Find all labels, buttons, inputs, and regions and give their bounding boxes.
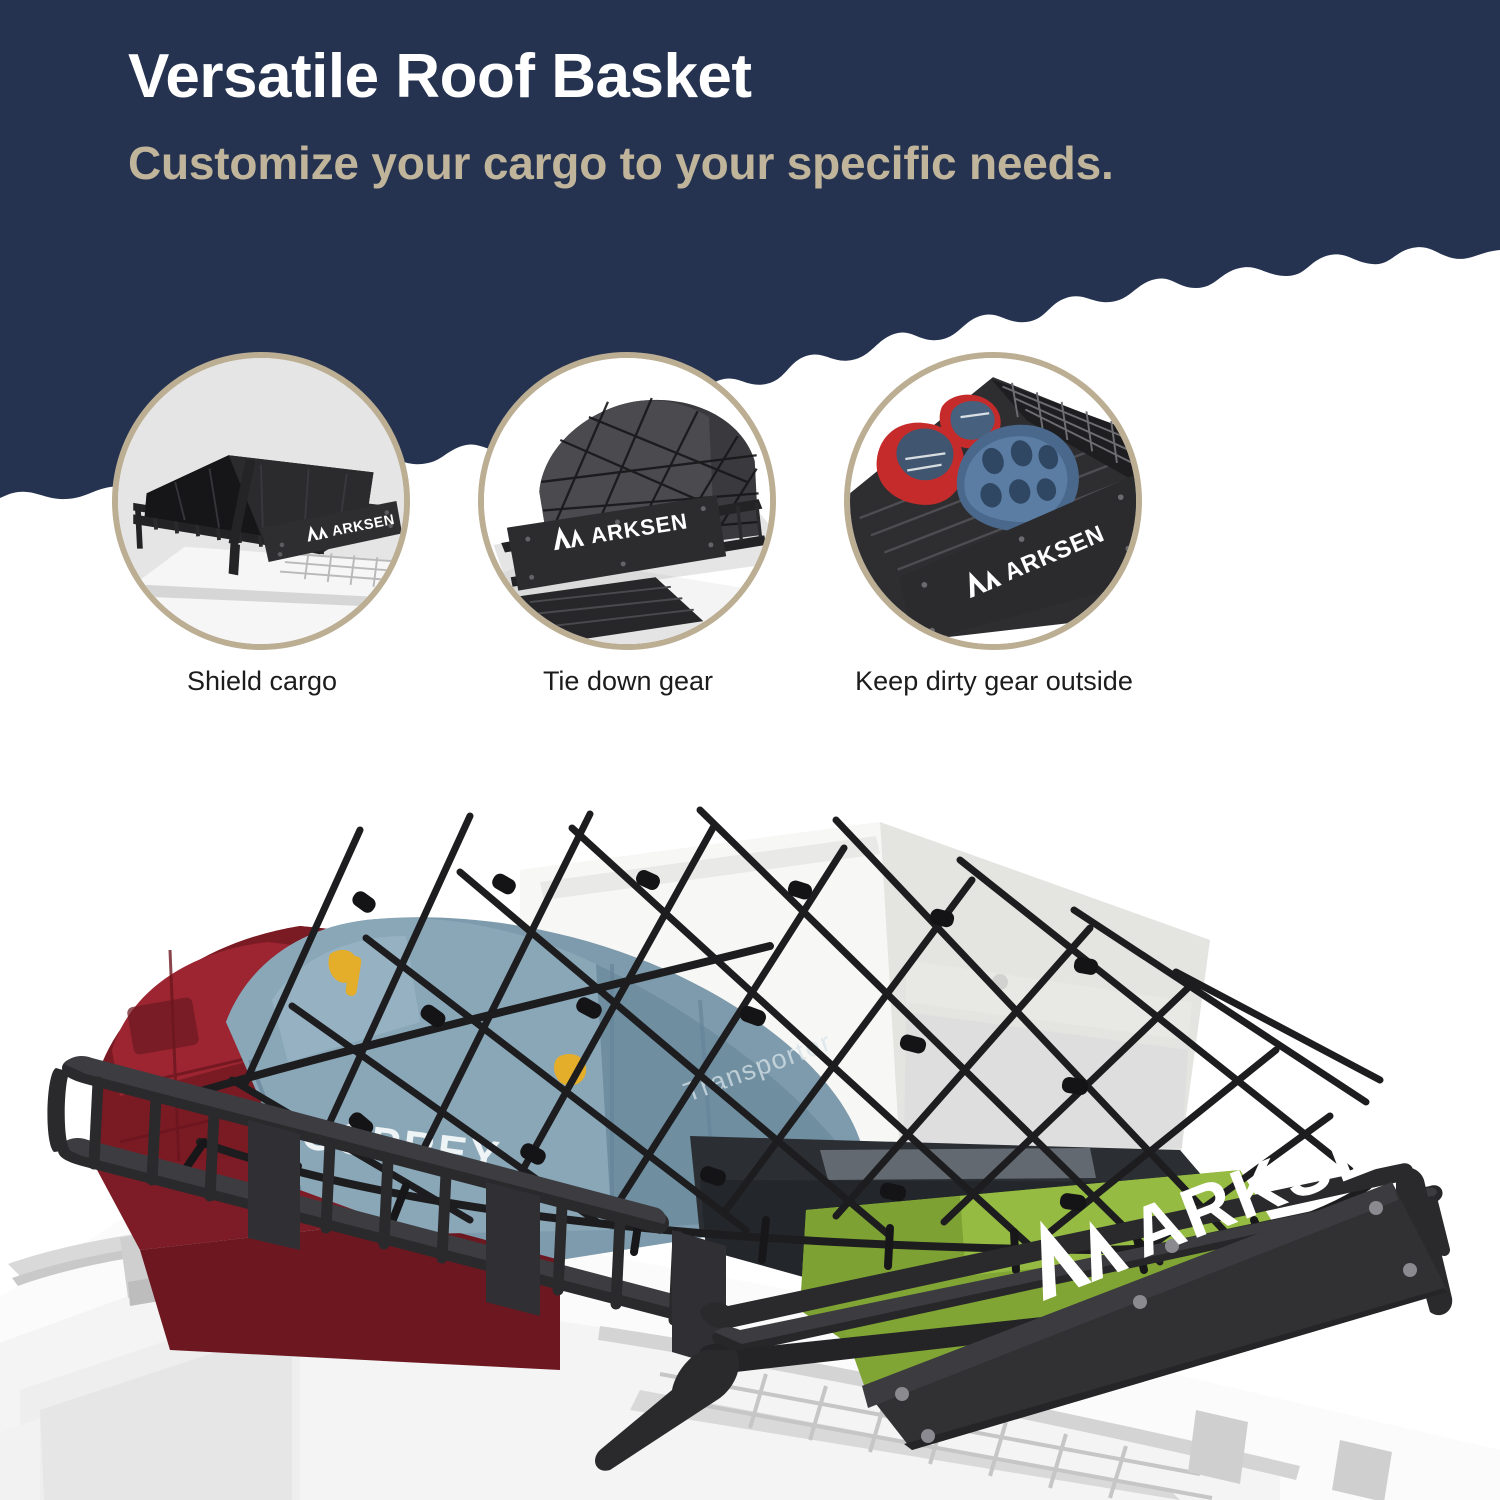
feature-item-keep-dirty-gear[interactable]: ARKSEN Keep dirty gear outside [844,352,1144,650]
feature-caption-1: Shield cargo [112,664,412,699]
page-title: Versatile Roof Basket [128,44,1428,109]
cargo-bag-on-basket-icon: ARKSEN [112,352,410,650]
roof-basket-illustration: OSPREY Transporter [0,750,1500,1500]
feature-circle-1: ARKSEN [112,352,410,650]
feature-circle-2: ARKSEN [478,352,776,650]
feature-caption-2: Tie down gear [478,664,778,699]
feature-thumbnails: ARKSEN Shield cargo [0,352,1500,752]
helmet-and-pads-in-basket-icon: ARKSEN [844,352,1142,650]
feature-circle-3: ARKSEN [844,352,1142,650]
hero-product-photo: OSPREY Transporter [0,750,1500,1500]
page-subtitle: Customize your cargo to your specific ne… [128,135,1318,191]
feature-item-shield-cargo[interactable]: ARKSEN Shield cargo [112,352,412,650]
feature-caption-3: Keep dirty gear outside [844,664,1144,699]
banner-text-block: Versatile Roof Basket Customize your car… [128,44,1428,191]
netted-cargo-on-basket-icon: ARKSEN [478,352,776,650]
product-infographic: Versatile Roof Basket Customize your car… [0,0,1500,1500]
feature-item-tie-down-gear[interactable]: ARKSEN Tie down gear [478,352,778,650]
